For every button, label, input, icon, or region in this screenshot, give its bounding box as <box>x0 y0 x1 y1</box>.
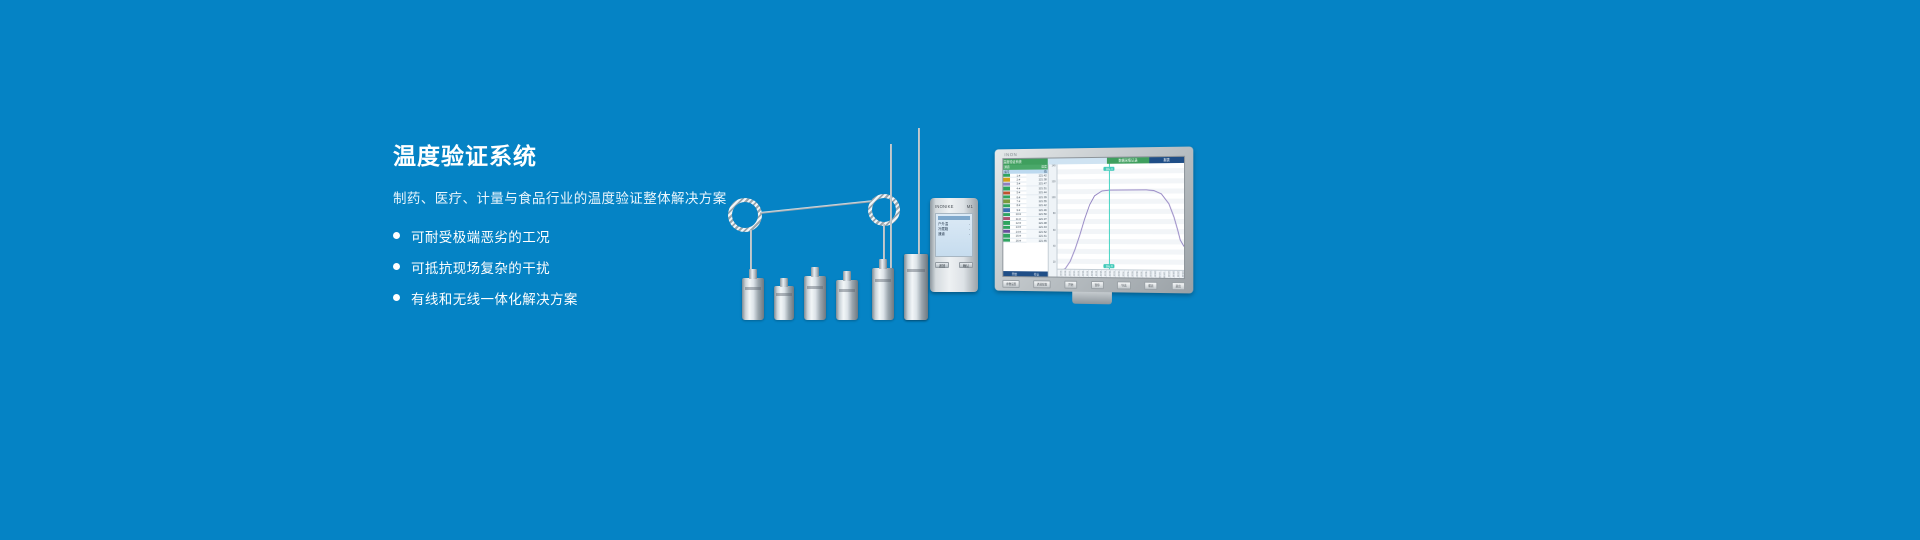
table-row[interactable]: 16 #121.45 <box>1003 239 1047 244</box>
series-color-swatch <box>1003 182 1010 185</box>
toolbar-button[interactable]: 报表 <box>1144 282 1157 290</box>
probe-cap-icon <box>780 278 788 287</box>
sensor-probe <box>742 278 764 320</box>
coiled-probe-icon <box>868 194 900 226</box>
toolbar-button[interactable]: 通道配置 <box>1033 280 1051 288</box>
coiled-probe-icon <box>728 198 762 232</box>
probe-lead-icon <box>760 200 876 214</box>
device-row-value: - <box>969 232 970 237</box>
series-color-swatch <box>1003 221 1010 224</box>
sensor-probe <box>836 280 858 320</box>
series-color-swatch <box>1003 226 1010 229</box>
bullet-dot-icon <box>393 263 400 270</box>
device-screen-titlebar <box>938 216 970 220</box>
series-color-swatch <box>1003 178 1010 181</box>
probe-stem-icon <box>890 144 892 280</box>
device-row-label: 通道 <box>938 232 945 237</box>
chart-curve <box>1049 163 1184 279</box>
monitor-display: INON 温度验证系统 数据采集记录 报表 通道 温度 编 <box>995 147 1194 294</box>
device-key-back: 返回 <box>935 262 949 268</box>
bullet-dot-icon <box>393 294 400 301</box>
bullet-dot-icon <box>393 232 400 239</box>
sensor-probe <box>872 268 894 320</box>
start-button[interactable]: 开始 <box>1012 272 1017 276</box>
cell-temperature: 121.45 <box>1027 238 1048 242</box>
series-color-swatch <box>1003 200 1010 203</box>
feature-label: 可抵抗现场复杂的干扰 <box>411 257 550 277</box>
sensor-probe <box>774 286 794 320</box>
device-screen: 户外温 - 冷藏箱 - 通道 - <box>935 213 973 257</box>
device-keypad: 返回 确认 <box>935 262 973 268</box>
series-color-swatch <box>1003 191 1010 194</box>
feature-label: 可耐受极端恶劣的工况 <box>411 226 550 246</box>
toolbar-button[interactable]: 开始 <box>1064 281 1077 289</box>
feature-label: 有线和无线一体化解决方案 <box>411 288 578 308</box>
hero-banner: 温度验证系统 制药、医疗、计量与食品行业的温度验证整体解决方案 可耐受极端恶劣的… <box>0 0 1920 540</box>
device-brand-label: INONIKE <box>935 204 954 209</box>
series-color-swatch <box>1003 234 1010 237</box>
sensor-probe <box>804 276 826 320</box>
toolbar-button[interactable]: 参数设置 <box>1002 280 1020 288</box>
series-color-swatch <box>1003 217 1010 220</box>
software-screen: 温度验证系统 数据采集记录 报表 通道 温度 编号 值 <box>1002 156 1185 279</box>
stop-button[interactable]: 停止 <box>1034 272 1039 276</box>
series-color-swatch <box>1003 239 1010 242</box>
toolbar-button[interactable]: 退出 <box>1171 282 1185 290</box>
chart-cursor-tag-bottom[interactable]: 游标 B <box>1104 264 1115 268</box>
probe-cap-icon <box>749 269 757 279</box>
channel-table-footer: 开始 停止 <box>1003 271 1047 276</box>
series-color-swatch <box>1003 174 1010 177</box>
series-color-swatch <box>1003 213 1010 216</box>
series-color-swatch <box>1003 208 1010 211</box>
product-photo-composite: INONIKE M1 户外温 - 冷藏箱 - 通道 - 返回 <box>720 110 1220 320</box>
handheld-logger-device: INONIKE M1 户外温 - 冷藏箱 - 通道 - 返回 <box>930 198 978 292</box>
channel-row-list: 1 #121.422 #121.383 #121.474 #121.515 #1… <box>1003 173 1047 271</box>
channel-table: 通道 温度 编号 值 1 #121.422 #121.383 #121.474 … <box>1003 165 1047 277</box>
cell-channel: 16 # <box>1010 238 1027 242</box>
chart-cursor-a[interactable] <box>1109 164 1110 277</box>
device-model-label: M1 <box>967 204 973 209</box>
device-brand-row: INONIKE M1 <box>935 204 973 209</box>
probe-cap-icon <box>879 259 887 269</box>
x-tick-label: 135:00 <box>1179 271 1184 278</box>
chart-cursor-tag-top[interactable]: 游标 A <box>1104 167 1115 171</box>
x-axis: 00:0005:0010:0015:0020:0025:0030:0035:00… <box>1058 269 1185 278</box>
software-body: 通道 温度 编号 值 1 #121.422 #121.383 #121.474 … <box>1003 163 1184 278</box>
software-toolbar: 参数设置通道配置开始暂停导出报表退出 <box>1002 280 1185 290</box>
monitor-brand-label: INON <box>1004 152 1017 157</box>
probe-cap-icon <box>843 271 851 281</box>
series-color-swatch <box>1003 187 1010 190</box>
toolbar-button[interactable]: 暂停 <box>1091 281 1104 289</box>
probe-cap-icon <box>811 267 819 277</box>
temperature-chart: 020406080100120140 游标 A 游标 B 00:0005:001… <box>1048 163 1184 278</box>
y-tick-label: 0 <box>1054 277 1055 280</box>
toolbar-button[interactable]: 导出 <box>1117 281 1130 289</box>
device-key-ok: 确认 <box>959 262 973 268</box>
sensor-probe <box>904 254 928 320</box>
series-color-swatch <box>1003 195 1010 198</box>
monitor-stand <box>1072 292 1112 305</box>
series-color-swatch <box>1003 230 1010 233</box>
device-screen-row: 通道 - <box>938 232 970 237</box>
series-color-swatch <box>1003 204 1010 207</box>
